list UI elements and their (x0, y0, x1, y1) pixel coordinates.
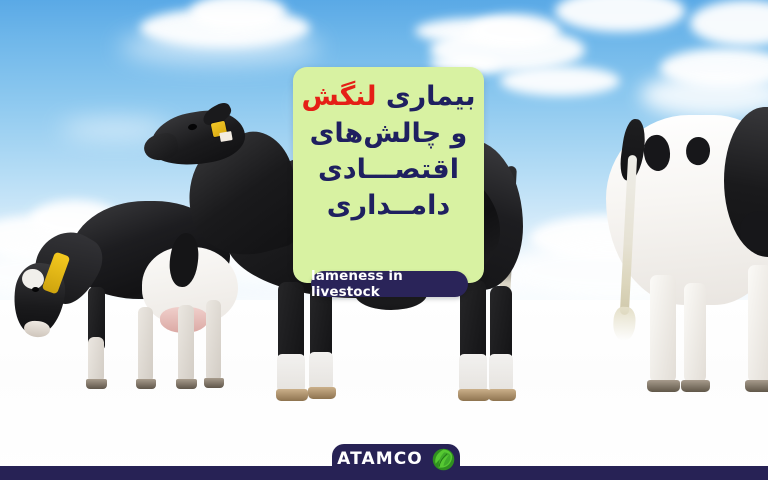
promo-banner: بیماری لنگش و چالش‌های اقتصـــادی دامــد… (0, 0, 768, 480)
title-card: بیماری لنگش و چالش‌های اقتصـــادی دامــد… (293, 67, 484, 283)
subtitle-badge: lameness in livestock (311, 271, 468, 297)
title-line-2: و چالش‌های (293, 120, 484, 148)
title-line-3: اقتصـــادی (293, 156, 484, 184)
brand-name: ATAMCO (337, 451, 423, 468)
title-line-1-prefix: بیماری (376, 81, 475, 112)
green-leaf-swirl-icon (432, 448, 455, 471)
title-line-4: دامــداری (293, 192, 484, 220)
brand-logo-tab[interactable]: ATAMCO (332, 444, 460, 478)
title-line-1: بیماری لنگش (293, 83, 484, 111)
rear-view-holstein-cow (600, 115, 768, 390)
title-line-1-highlight: لنگش (301, 81, 376, 112)
